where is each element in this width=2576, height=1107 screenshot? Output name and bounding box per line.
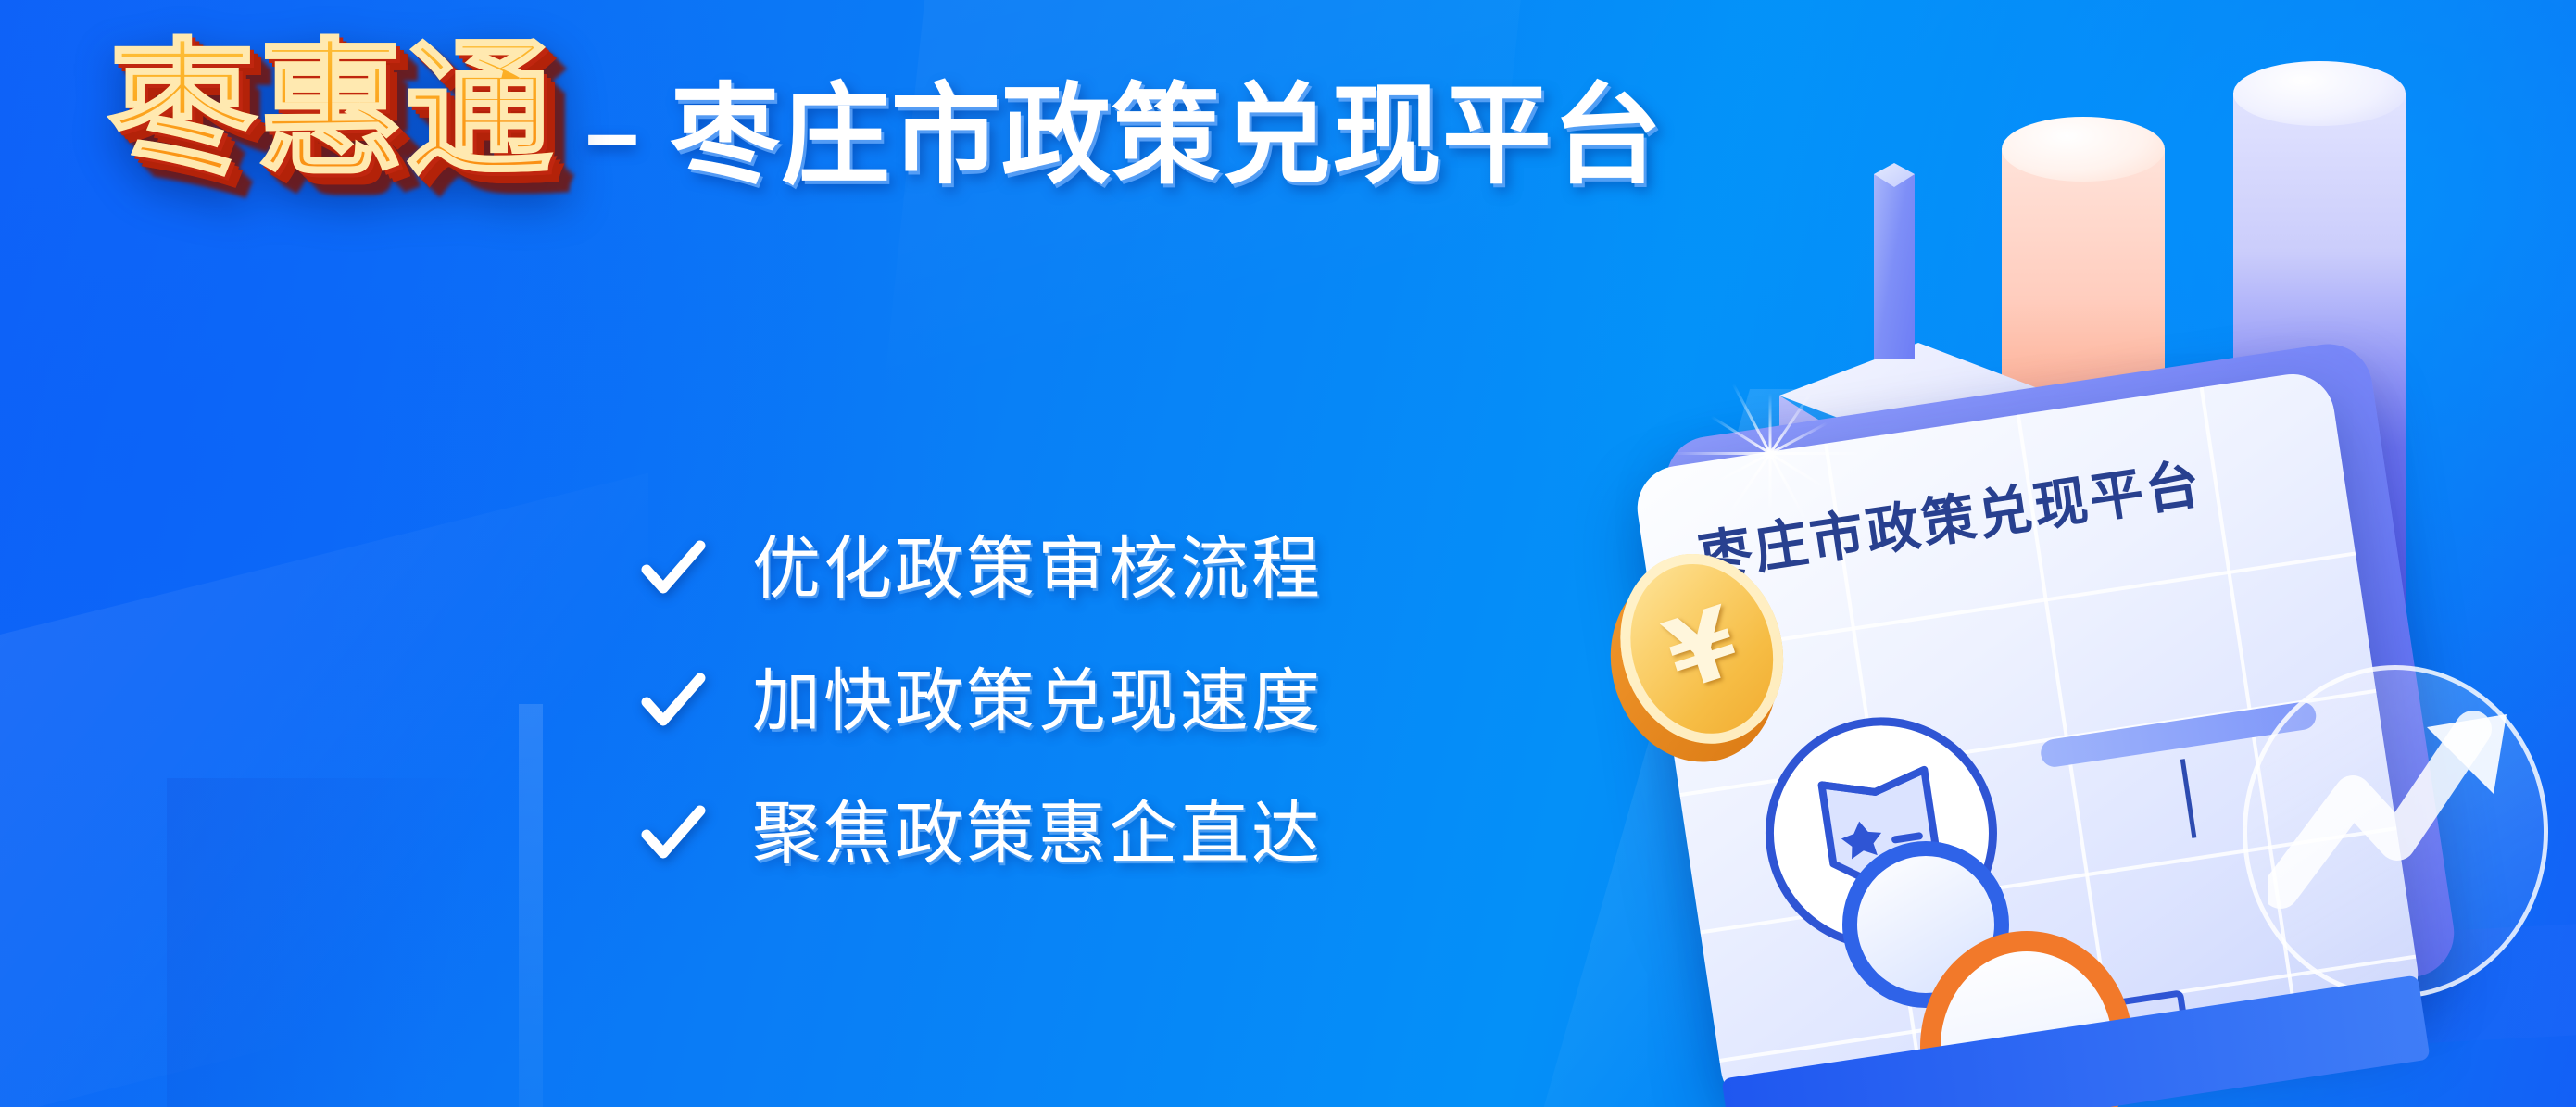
title-separator: – <box>585 85 639 182</box>
check-icon <box>639 535 708 603</box>
marker-pin-stem <box>1874 174 1915 359</box>
promo-banner: 枣惠通 – 枣庄市政策兑现平台 优化政策审核流程 加快政策兑现速度 聚焦政策惠企… <box>0 0 2576 1107</box>
check-icon <box>639 667 708 736</box>
feature-label: 优化政策审核流程 <box>752 528 1323 610</box>
brand-title: 枣惠通 <box>109 28 554 188</box>
feature-item: 聚焦政策惠企直达 <box>639 793 1323 875</box>
sparkle-icon <box>1668 350 1872 554</box>
check-icon <box>639 799 708 868</box>
background-slab-shadow <box>167 778 556 1107</box>
feature-label: 加快政策兑现速度 <box>752 660 1323 743</box>
card-tick-mark <box>2180 759 2197 838</box>
background-pillar <box>519 704 543 1107</box>
feature-item: 加快政策兑现速度 <box>639 660 1323 743</box>
growth-arrow-icon <box>2243 665 2548 999</box>
feature-item: 优化政策审核流程 <box>639 528 1323 610</box>
background-slab-left <box>0 473 648 1107</box>
headline-group: 枣惠通 – 枣庄市政策兑现平台 <box>109 28 1663 196</box>
feature-label: 聚焦政策惠企直达 <box>752 793 1323 875</box>
hero-illustration: 枣庄市政策兑现平台 <box>1594 0 2576 1107</box>
feature-list: 优化政策审核流程 加快政策兑现速度 聚焦政策惠企直达 <box>639 528 1323 874</box>
coin-currency-symbol: ¥ <box>1655 593 1749 705</box>
platform-subtitle: 枣庄市政策兑现平台 <box>671 76 1663 196</box>
